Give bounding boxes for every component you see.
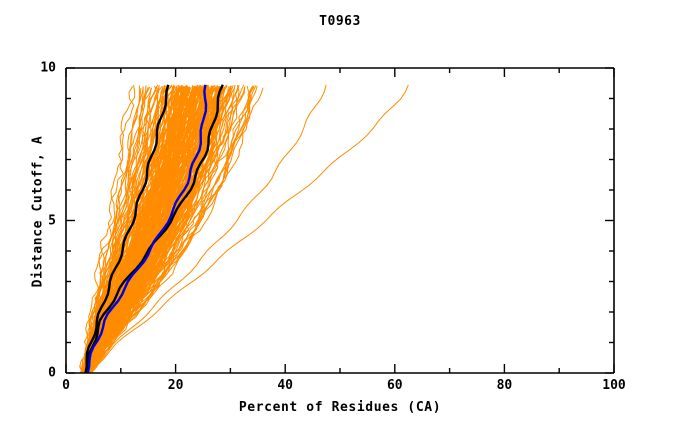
curves-layer bbox=[80, 85, 409, 373]
plot-canvas bbox=[0, 0, 680, 440]
chart-root: T0963 Distance Cutoff, A Percent of Resi… bbox=[0, 0, 680, 440]
